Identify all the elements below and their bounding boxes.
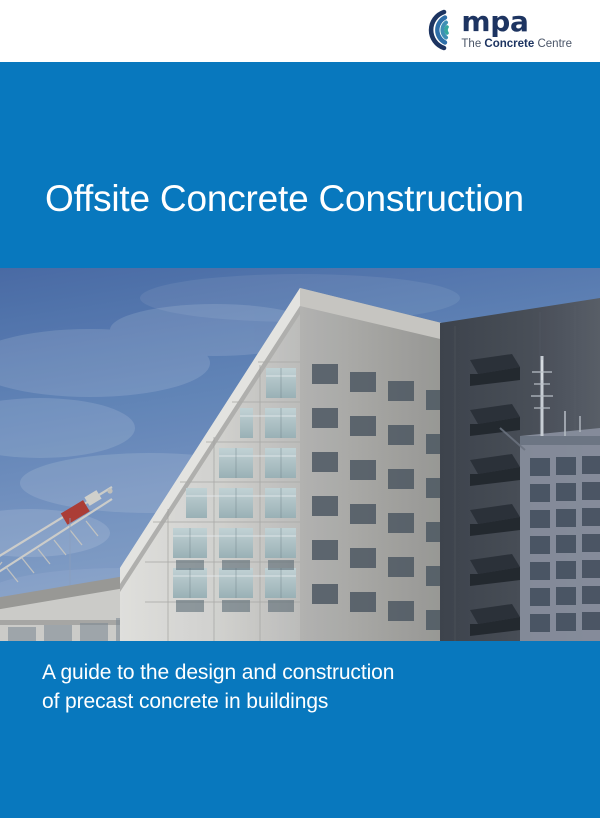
subtitle-line-2: of precast concrete in buildings <box>42 687 394 716</box>
mpa-logo[interactable]: mpa The Concrete Centre <box>414 7 572 55</box>
mpa-logo-text: mpa The Concrete Centre <box>461 7 572 52</box>
mpa-wordmark: mpa <box>461 9 572 35</box>
tagline-bold: Concrete <box>484 38 534 50</box>
subtitle-line-1: A guide to the design and construction <box>42 658 394 687</box>
title-band: Offsite Concrete Construction <box>0 62 600 268</box>
cover-photograph <box>0 268 600 641</box>
logo-tagline: The Concrete Centre <box>461 37 572 52</box>
publication-cover: mpa The Concrete Centre Offsite Concrete… <box>0 0 600 818</box>
mpa-concentric-arcs-logo-icon <box>414 7 460 53</box>
page-subtitle: A guide to the design and construction o… <box>42 658 394 716</box>
tagline-prefix: The <box>461 38 484 50</box>
bottom-band: A guide to the design and construction o… <box>0 641 600 818</box>
header-band: mpa The Concrete Centre <box>0 0 600 62</box>
page-title: Offsite Concrete Construction <box>45 177 524 221</box>
tagline-suffix: Centre <box>534 38 572 50</box>
